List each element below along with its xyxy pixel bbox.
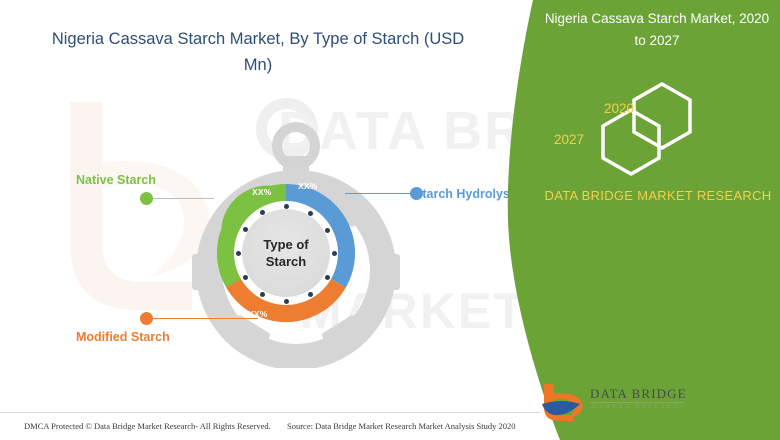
panel-brand: DATA BRIDGE MARKET RESEARCH (544, 185, 772, 206)
ring-dot (260, 292, 265, 297)
ring-dot (332, 251, 337, 256)
ring-dot (236, 251, 241, 256)
leader-line-modified (148, 318, 258, 319)
footer-source: Source: Data Bridge Market Research Mark… (287, 421, 516, 431)
legend-label-native: Native Starch (76, 173, 156, 187)
footer-divider (0, 412, 540, 413)
ring-dot (243, 275, 248, 280)
donut-chart: Type of Starch XX% XX% XX% (196, 163, 376, 343)
ring-dot (308, 292, 313, 297)
center-line-2: Starch (266, 253, 306, 270)
segment-value-native: XX% (252, 187, 272, 197)
chart-panel: DATA BRIDGE MARKET RESEARCH Nigeria Cass… (0, 0, 540, 440)
center-line-1: Type of (263, 236, 308, 253)
logo-text-sub: MARKET RESEARCH (591, 403, 687, 410)
footer-copyright: DMCA Protected © Data Bridge Market Rese… (24, 421, 271, 431)
hexagon-group (586, 80, 738, 180)
hex-label-2020: 2020 (604, 101, 634, 116)
ring-dot (325, 228, 330, 233)
ring-dot (284, 299, 289, 304)
legend-dot-native (140, 192, 153, 205)
segment-value-hydrolysate: XX% (298, 181, 318, 191)
green-panel-content: Nigeria Cassava Starch Market, 2020 to 2… (528, 0, 780, 440)
hex-label-2027: 2027 (554, 132, 584, 147)
brand-logo: DATA BRIDGE MARKET RESEARCH (540, 382, 700, 424)
leader-line-hydrolysate (345, 193, 417, 194)
donut-center-label: Type of Starch (242, 209, 330, 297)
legend-label-modified: Modified Starch (76, 330, 170, 344)
page-title: Nigeria Cassava Starch Market, By Type o… (38, 26, 478, 78)
logo-text-main: DATA BRIDGE (590, 386, 687, 402)
leader-line-native (152, 198, 214, 199)
legend-label-hydrolysate: Starch Hydrolysate (414, 187, 528, 201)
panel-title: Nigeria Cassava Starch Market, 2020 to 2… (538, 8, 776, 52)
logo-mark-icon (540, 382, 586, 422)
ring-dot (325, 275, 330, 280)
legend-dot-modified (140, 312, 153, 325)
infographic-slide: DATA BRIDGE MARKET RESEARCH Nigeria Cass… (0, 0, 780, 440)
